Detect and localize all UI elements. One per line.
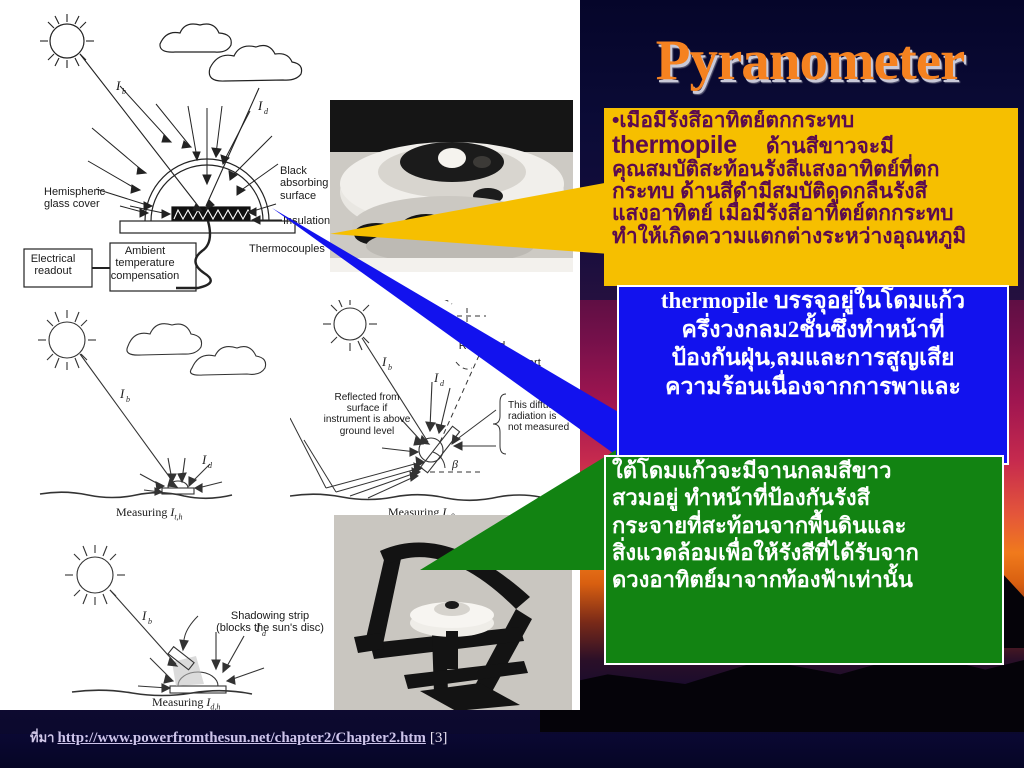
green-line-3: กระจายที่สะท้อนจากพื้นดินและ: [606, 512, 1002, 539]
page-title: Pyranometer: [600, 28, 1020, 93]
svg-text:I: I: [433, 370, 439, 385]
yellow-line-1: •เมื่อมีรังสีอาทิตย์ตกกระทบ: [606, 110, 1016, 132]
blue-line-1: thermopile บรรจุอยู่ในโดมแก้ว: [619, 287, 1007, 316]
label-electrical-readout: Electrical readout: [22, 253, 84, 278]
green-line-2: สวมอยู่ ทำหน้าที่ป้องกันรังสี: [606, 484, 1002, 511]
svg-text:d: d: [208, 461, 213, 470]
yellow-text-2: ด้านสีขาวจะมี: [766, 135, 894, 158]
yellow-line-6: ทำให้เกิดความแตกต่างระหว่างอุณหภูมิ: [606, 226, 1016, 248]
svg-text:b: b: [122, 87, 126, 96]
footer-source-label: ที่มา: [30, 730, 54, 745]
footer-reference: [3]: [430, 730, 448, 746]
caption-measuring-diffuse: Measuring Id,h: [152, 695, 220, 710]
footer-source-link[interactable]: http://www.powerfromthesun.net/chapter2/…: [57, 730, 425, 746]
svg-text:I: I: [381, 354, 387, 369]
callout-box-yellow: •เมื่อมีรังสีอาทิตย์ตกกระทบ thermopile ด…: [604, 108, 1018, 286]
svg-text:b: b: [388, 363, 392, 372]
svg-text:I: I: [201, 452, 207, 467]
figure-measuring-total-horizontal: I b I d: [10, 298, 300, 528]
svg-text:I: I: [115, 78, 121, 93]
svg-text:I: I: [141, 608, 147, 623]
yellow-text-1: เมื่อมีรังสีอาทิตย์ตกกระทบ: [619, 109, 854, 132]
svg-text:b: b: [126, 395, 130, 404]
svg-text:I: I: [119, 386, 125, 401]
green-line-1: ใต้โดมแก้วจะมีจานกลมสีขาว: [606, 457, 1002, 484]
slide-root: I b I d Hemispheric glass cover Black ab…: [0, 0, 1024, 768]
footer-source: ที่มาhttp://www.powerfromthesun.net/chap…: [30, 727, 447, 748]
label-ambient-temperature-compensation: Ambient temperature compensation: [110, 245, 180, 282]
callout-box-blue: thermopile บรรจุอยู่ในโดมแก้ว ครึ่งวงกลม…: [617, 285, 1009, 465]
label-shadowing-strip: Shadowing strip (blocks the sun's disc): [200, 610, 340, 635]
svg-text:b: b: [148, 617, 152, 626]
caption-text: Measuring: [116, 505, 167, 519]
label-reflected-from-surface: Reflected from surface if instrument is …: [308, 392, 426, 437]
yellow-line-5: แสงอาทิตย์ เมื่อมีรังสีอาทิตย์ตกกระทบ: [606, 203, 1016, 225]
svg-text:d: d: [264, 107, 269, 116]
caption-subscript: t,h: [174, 512, 182, 521]
label-hemispheric-glass-cover: Hemispheric glass cover: [44, 186, 148, 211]
svg-text:β: β: [451, 457, 458, 471]
blue-line-4: ความร้อนเนื่องจากการพาและ: [619, 373, 1007, 402]
callout-box-green: ใต้โดมแก้วจะมีจานกลมสีขาว สวมอยู่ ทำหน้า…: [604, 455, 1004, 665]
blue-line-3: ป้องกันฝุ่น,ลมและการสูญเสีย: [619, 344, 1007, 373]
caption-text: Measuring: [152, 695, 203, 709]
yellow-keyword: thermopile: [612, 131, 737, 159]
svg-text:I: I: [257, 98, 263, 113]
yellow-line-3: คุณสมบัติสะท้อนรังสีแสงอาทิตย์ที่ตก: [606, 159, 1016, 181]
caption-measuring-total-horizontal: Measuring It,h: [116, 505, 183, 521]
green-line-5: ดวงอาทิตย์มาจากท้องฟ้าเท่านั้น: [606, 566, 1002, 593]
yellow-line-2: thermopile ด้านสีขาวจะมี: [606, 132, 1016, 159]
svg-text:d: d: [440, 379, 445, 388]
caption-subscript: d,h: [210, 702, 220, 710]
yellow-line-4: กระทบ ด้านสีดำมีสมบัติดูดกลืนรังสี: [606, 181, 1016, 203]
green-line-4: สิ่งแวดล้อมเพื่อให้รังสีที่ได้รับจาก: [606, 539, 1002, 566]
blue-line-2: ครึ่งวงกลม2ชั้นซึ่งทำหน้าที่: [619, 316, 1007, 345]
